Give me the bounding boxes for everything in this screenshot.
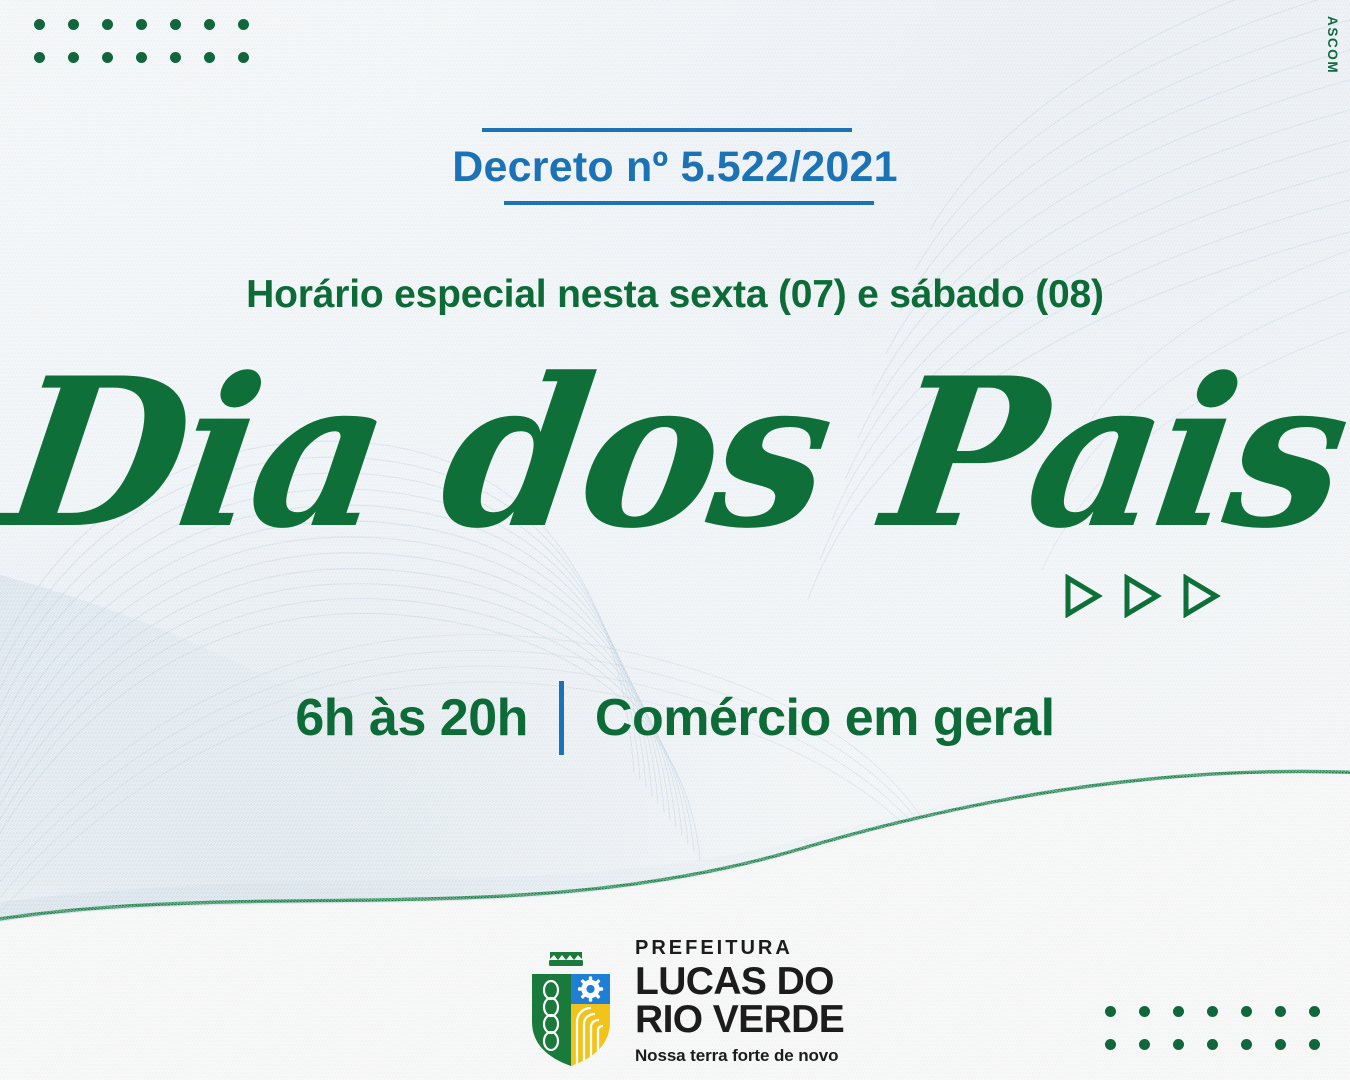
decree-number: Decreto nº 5.522/2021: [0, 145, 1350, 190]
dot: [204, 52, 215, 63]
dot: [1139, 1039, 1150, 1050]
logo-text-block: PREFEITURA LUCAS DO RIO VERDE Nossa terr…: [635, 938, 844, 1072]
hours-row: 6h às 20h Comércio em geral: [0, 681, 1350, 755]
dot: [1139, 1006, 1150, 1017]
decree-rule-top: [482, 128, 852, 132]
dot: [1309, 1039, 1320, 1050]
dot: [1207, 1039, 1218, 1050]
hours-time: 6h às 20h: [295, 688, 528, 748]
dot-grid-bottomright: [1105, 1006, 1320, 1050]
logo-line1: LUCAS DO: [635, 963, 844, 1001]
dot: [170, 52, 181, 63]
arrow-group: [1062, 574, 1222, 618]
triangle-right-outline-icon: [1180, 574, 1222, 618]
gear-icon: [578, 976, 603, 1001]
triangle-right-outline-icon: [1121, 574, 1163, 618]
headline-block: Dia dos Pais: [0, 352, 1350, 617]
dot: [170, 19, 181, 30]
shield-left-green: [532, 974, 571, 1068]
dot: [102, 19, 113, 30]
dot: [1105, 1006, 1116, 1017]
logo-tagline: Nossa terra forte de novo: [635, 1046, 844, 1066]
dot: [34, 52, 45, 63]
dot: [204, 19, 215, 30]
crown-icon: [549, 952, 583, 966]
dot: [68, 52, 79, 63]
dot: [1105, 1039, 1116, 1050]
dot: [1241, 1006, 1252, 1017]
dot: [68, 19, 79, 30]
dot: [136, 52, 147, 63]
decree-block: Decreto nº 5.522/2021: [0, 128, 1350, 205]
hours-scope: Comércio em geral: [595, 688, 1055, 748]
dot: [1309, 1006, 1320, 1017]
poster-canvas: ASCOM Decreto nº 5.522/2021 Horário espe…: [0, 0, 1350, 1080]
municipal-shield-crest-icon: [524, 944, 620, 1072]
dot: [102, 52, 113, 63]
logo-prefix: PREFEITURA: [635, 938, 844, 958]
hours-divider: [559, 681, 564, 755]
dot: [1207, 1006, 1218, 1017]
logo-line2: RIO VERDE: [635, 1001, 844, 1039]
headline-script-text: Dia dos Pais: [0, 352, 1350, 557]
dot-grid-topleft: [34, 19, 249, 63]
ascom-credit-label: ASCOM: [1325, 16, 1340, 74]
dot: [1173, 1006, 1184, 1017]
dot: [136, 19, 147, 30]
dot: [1241, 1039, 1252, 1050]
dot: [34, 19, 45, 30]
city-hall-logo: PREFEITURA LUCAS DO RIO VERDE Nossa terr…: [524, 938, 844, 1072]
triangle-right-outline-icon: [1062, 574, 1104, 618]
decree-rule-bottom: [504, 201, 874, 205]
dot: [238, 19, 249, 30]
schedule-subtitle: Horário especial nesta sexta (07) e sába…: [0, 273, 1350, 317]
dot: [1275, 1006, 1286, 1017]
crest-column: [524, 944, 620, 1072]
dot: [1173, 1039, 1184, 1050]
dot: [238, 52, 249, 63]
dot: [1275, 1039, 1286, 1050]
